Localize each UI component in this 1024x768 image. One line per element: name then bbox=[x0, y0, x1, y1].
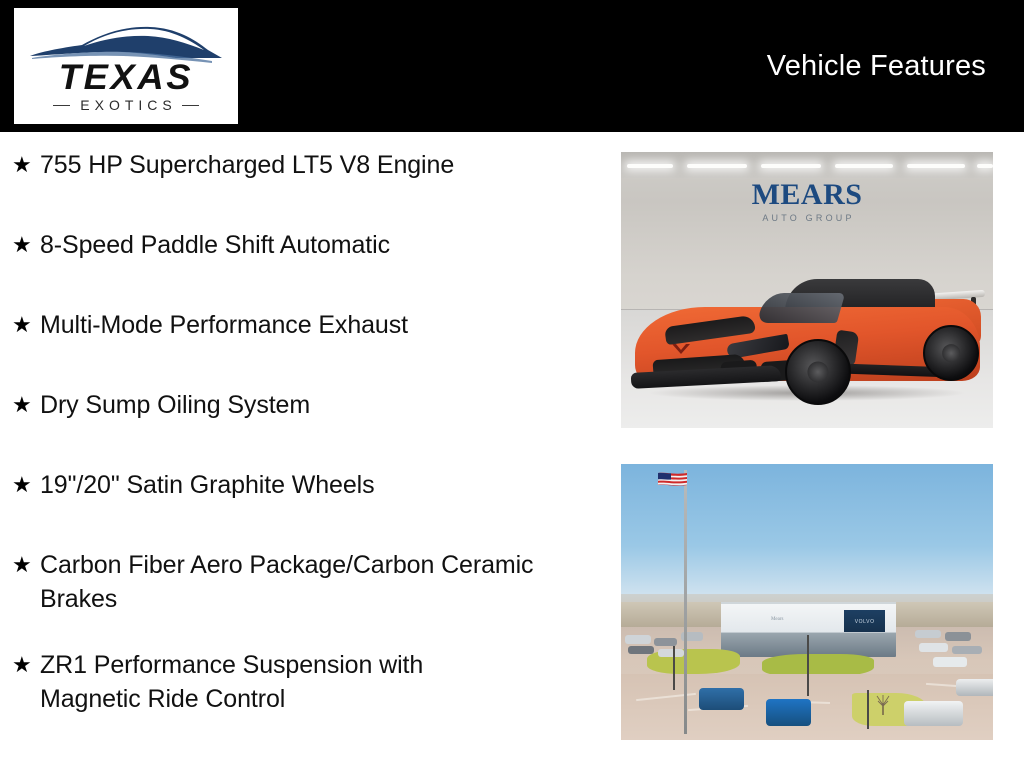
header-bar: TEXAS EXOTICS Vehicle Features bbox=[0, 0, 1024, 132]
parked-car bbox=[654, 638, 676, 646]
volvo-sign-text: VOLVO bbox=[844, 619, 885, 625]
parked-car bbox=[915, 630, 941, 638]
star-bullet-icon: ★ bbox=[10, 468, 40, 502]
american-flag-icon bbox=[658, 472, 688, 490]
ceiling-light bbox=[907, 164, 965, 168]
list-item: ★ 8-Speed Paddle Shift Automatic bbox=[10, 228, 605, 308]
lamp-post bbox=[807, 635, 809, 696]
ceiling-light bbox=[687, 164, 747, 168]
logo-secondary-row: EXOTICS bbox=[14, 98, 238, 113]
lamp-post bbox=[673, 646, 675, 690]
ceiling-light bbox=[835, 164, 893, 168]
vehicle-showroom-photo: MEARS AUTO GROUP bbox=[621, 152, 993, 428]
list-item: ★ 19"/20" Satin Graphite Wheels bbox=[10, 468, 605, 548]
logo-secondary-text: EXOTICS bbox=[75, 98, 176, 113]
list-item: ★ ZR1 Performance Suspension with Magnet… bbox=[10, 648, 605, 748]
ceiling-light bbox=[977, 164, 993, 168]
corvette-flag-badge-icon bbox=[671, 343, 691, 355]
parked-car bbox=[933, 657, 966, 666]
parked-car bbox=[952, 646, 982, 654]
feature-text: Multi-Mode Performance Exhaust bbox=[40, 308, 408, 342]
ceiling-light bbox=[761, 164, 821, 168]
star-bullet-icon: ★ bbox=[10, 228, 40, 262]
logo-rule-left bbox=[53, 105, 70, 107]
texas-exotics-logo: TEXAS EXOTICS bbox=[14, 8, 238, 124]
wheel-hub bbox=[942, 344, 960, 362]
mears-wall-sign: MEARS AUTO GROUP bbox=[621, 179, 993, 225]
ceiling-light bbox=[627, 164, 673, 168]
parked-car bbox=[766, 699, 811, 727]
star-bullet-icon: ★ bbox=[10, 548, 40, 582]
feature-text: 755 HP Supercharged LT5 V8 Engine bbox=[40, 148, 454, 182]
building-roofline bbox=[721, 602, 896, 604]
windshield bbox=[757, 293, 846, 323]
lamp-post bbox=[867, 690, 869, 729]
logo-rule-right bbox=[182, 105, 199, 107]
feature-text: 8-Speed Paddle Shift Automatic bbox=[40, 228, 390, 262]
feature-text: Dry Sump Oiling System bbox=[40, 388, 310, 422]
mears-sign-primary: MEARS bbox=[621, 179, 993, 211]
front-wheel bbox=[785, 339, 851, 405]
parked-car bbox=[699, 688, 744, 710]
parked-car bbox=[919, 643, 949, 651]
parked-car bbox=[945, 632, 971, 640]
star-bullet-icon: ★ bbox=[10, 308, 40, 342]
parked-car bbox=[625, 635, 651, 644]
feature-text: ZR1 Performance Suspension with Magnetic… bbox=[40, 648, 520, 716]
list-item: ★ Multi-Mode Performance Exhaust bbox=[10, 308, 605, 388]
list-item: ★ Dry Sump Oiling System bbox=[10, 388, 605, 468]
logo-primary-text: TEXAS bbox=[14, 60, 238, 96]
dealership-aerial-photo: Mears VOLVO bbox=[621, 464, 993, 740]
mears-sign-secondary: AUTO GROUP bbox=[621, 211, 993, 225]
corvette-zr1-car bbox=[635, 277, 980, 405]
tree-icon bbox=[874, 693, 892, 715]
star-bullet-icon: ★ bbox=[10, 648, 40, 682]
vehicle-features-list: ★ 755 HP Supercharged LT5 V8 Engine ★ 8-… bbox=[10, 148, 605, 748]
wheel-hub bbox=[807, 361, 828, 382]
star-bullet-icon: ★ bbox=[10, 148, 40, 182]
flag-pole bbox=[684, 470, 687, 735]
list-item: ★ Carbon Fiber Aero Package/Carbon Ceram… bbox=[10, 548, 605, 648]
parked-car bbox=[658, 649, 684, 657]
rear-wheel bbox=[923, 325, 979, 381]
parked-car bbox=[904, 701, 964, 726]
feature-text: Carbon Fiber Aero Package/Carbon Ceramic… bbox=[40, 548, 540, 616]
star-bullet-icon: ★ bbox=[10, 388, 40, 422]
volvo-sign: VOLVO bbox=[844, 610, 885, 632]
page-title: Vehicle Features bbox=[767, 50, 986, 83]
building-name-text: Mears bbox=[755, 617, 800, 622]
feature-text: 19"/20" Satin Graphite Wheels bbox=[40, 468, 374, 502]
parked-car bbox=[628, 646, 654, 654]
parked-car bbox=[956, 679, 993, 696]
list-item: ★ 755 HP Supercharged LT5 V8 Engine bbox=[10, 148, 605, 228]
